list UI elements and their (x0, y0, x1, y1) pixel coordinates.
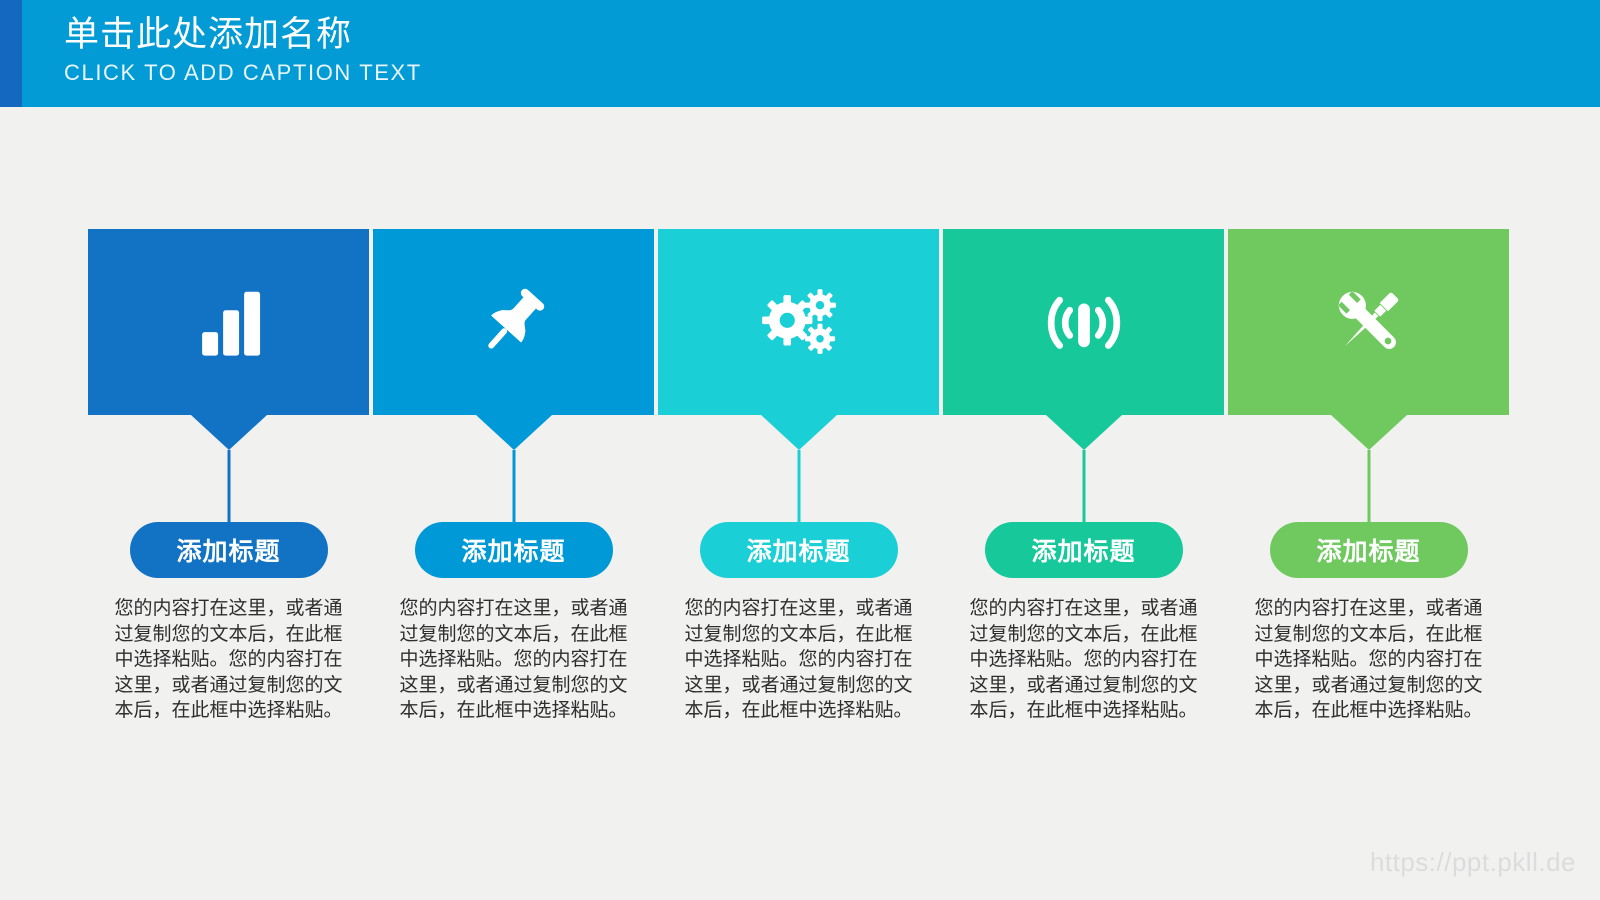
connector-line (512, 450, 515, 524)
title-pill[interactable]: 添加标题 (1270, 522, 1468, 578)
header-accent-bar (0, 0, 22, 107)
connector-cell (1228, 450, 1509, 524)
icon-card-pointer (1046, 415, 1122, 450)
content-column: 添加标题 您的内容打在这里，或者通过复制您的文本后，在此框中选择粘贴。您的内容打… (373, 522, 654, 724)
icon-card[interactable] (373, 229, 654, 415)
icon-card-pointer (191, 415, 267, 450)
description-text[interactable]: 您的内容打在这里，或者通过复制您的文本后，在此框中选择粘贴。您的内容打在这里，或… (963, 596, 1205, 724)
icon-card[interactable] (1228, 229, 1509, 415)
title-pill[interactable]: 添加标题 (415, 522, 613, 578)
content-column-row: 添加标题 您的内容打在这里，或者通过复制您的文本后，在此框中选择粘贴。您的内容打… (88, 522, 1509, 724)
broadcast-signal-icon (943, 229, 1224, 415)
description-text[interactable]: 您的内容打在这里，或者通过复制您的文本后，在此框中选择粘贴。您的内容打在这里，或… (108, 596, 350, 724)
connector-cell (658, 450, 939, 524)
icon-card-row (88, 229, 1509, 450)
page-subtitle[interactable]: CLICK TO ADD CAPTION TEXT (64, 58, 422, 88)
description-text[interactable]: 您的内容打在这里，或者通过复制您的文本后，在此框中选择粘贴。您的内容打在这里，或… (1248, 596, 1490, 724)
title-pill[interactable]: 添加标题 (700, 522, 898, 578)
title-pill[interactable]: 添加标题 (985, 522, 1183, 578)
icon-card-pointer (476, 415, 552, 450)
icon-card[interactable] (943, 229, 1224, 415)
pushpin-icon (373, 229, 654, 415)
connector-line (1082, 450, 1085, 524)
title-pill[interactable]: 添加标题 (130, 522, 328, 578)
content-column: 添加标题 您的内容打在这里，或者通过复制您的文本后，在此框中选择粘贴。您的内容打… (943, 522, 1224, 724)
watermark-url: https://ppt.pkll.de (1370, 847, 1576, 878)
description-text[interactable]: 您的内容打在这里，或者通过复制您的文本后，在此框中选择粘贴。您的内容打在这里，或… (678, 596, 920, 724)
content-column: 添加标题 您的内容打在这里，或者通过复制您的文本后，在此框中选择粘贴。您的内容打… (1228, 522, 1509, 724)
gears-icon (658, 229, 939, 415)
bar-chart-icon (88, 229, 369, 415)
page-title[interactable]: 单击此处添加名称 (64, 12, 422, 58)
connector-line (797, 450, 800, 524)
connector-line (227, 450, 230, 524)
connector-line (1367, 450, 1370, 524)
slide-header: 单击此处添加名称 CLICK TO ADD CAPTION TEXT (0, 0, 1600, 107)
wrench-screwdriver-icon (1228, 229, 1509, 415)
content-column: 添加标题 您的内容打在这里，或者通过复制您的文本后，在此框中选择粘贴。您的内容打… (88, 522, 369, 724)
icon-card-pointer (761, 415, 837, 450)
connector-line-row (88, 450, 1509, 524)
header-text-group: 单击此处添加名称 CLICK TO ADD CAPTION TEXT (64, 12, 422, 88)
icon-card[interactable] (658, 229, 939, 415)
description-text[interactable]: 您的内容打在这里，或者通过复制您的文本后，在此框中选择粘贴。您的内容打在这里，或… (393, 596, 635, 724)
connector-cell (88, 450, 369, 524)
icon-card-pointer (1331, 415, 1407, 450)
icon-card[interactable] (88, 229, 369, 415)
content-column: 添加标题 您的内容打在这里，或者通过复制您的文本后，在此框中选择粘贴。您的内容打… (658, 522, 939, 724)
connector-cell (373, 450, 654, 524)
connector-cell (943, 450, 1224, 524)
